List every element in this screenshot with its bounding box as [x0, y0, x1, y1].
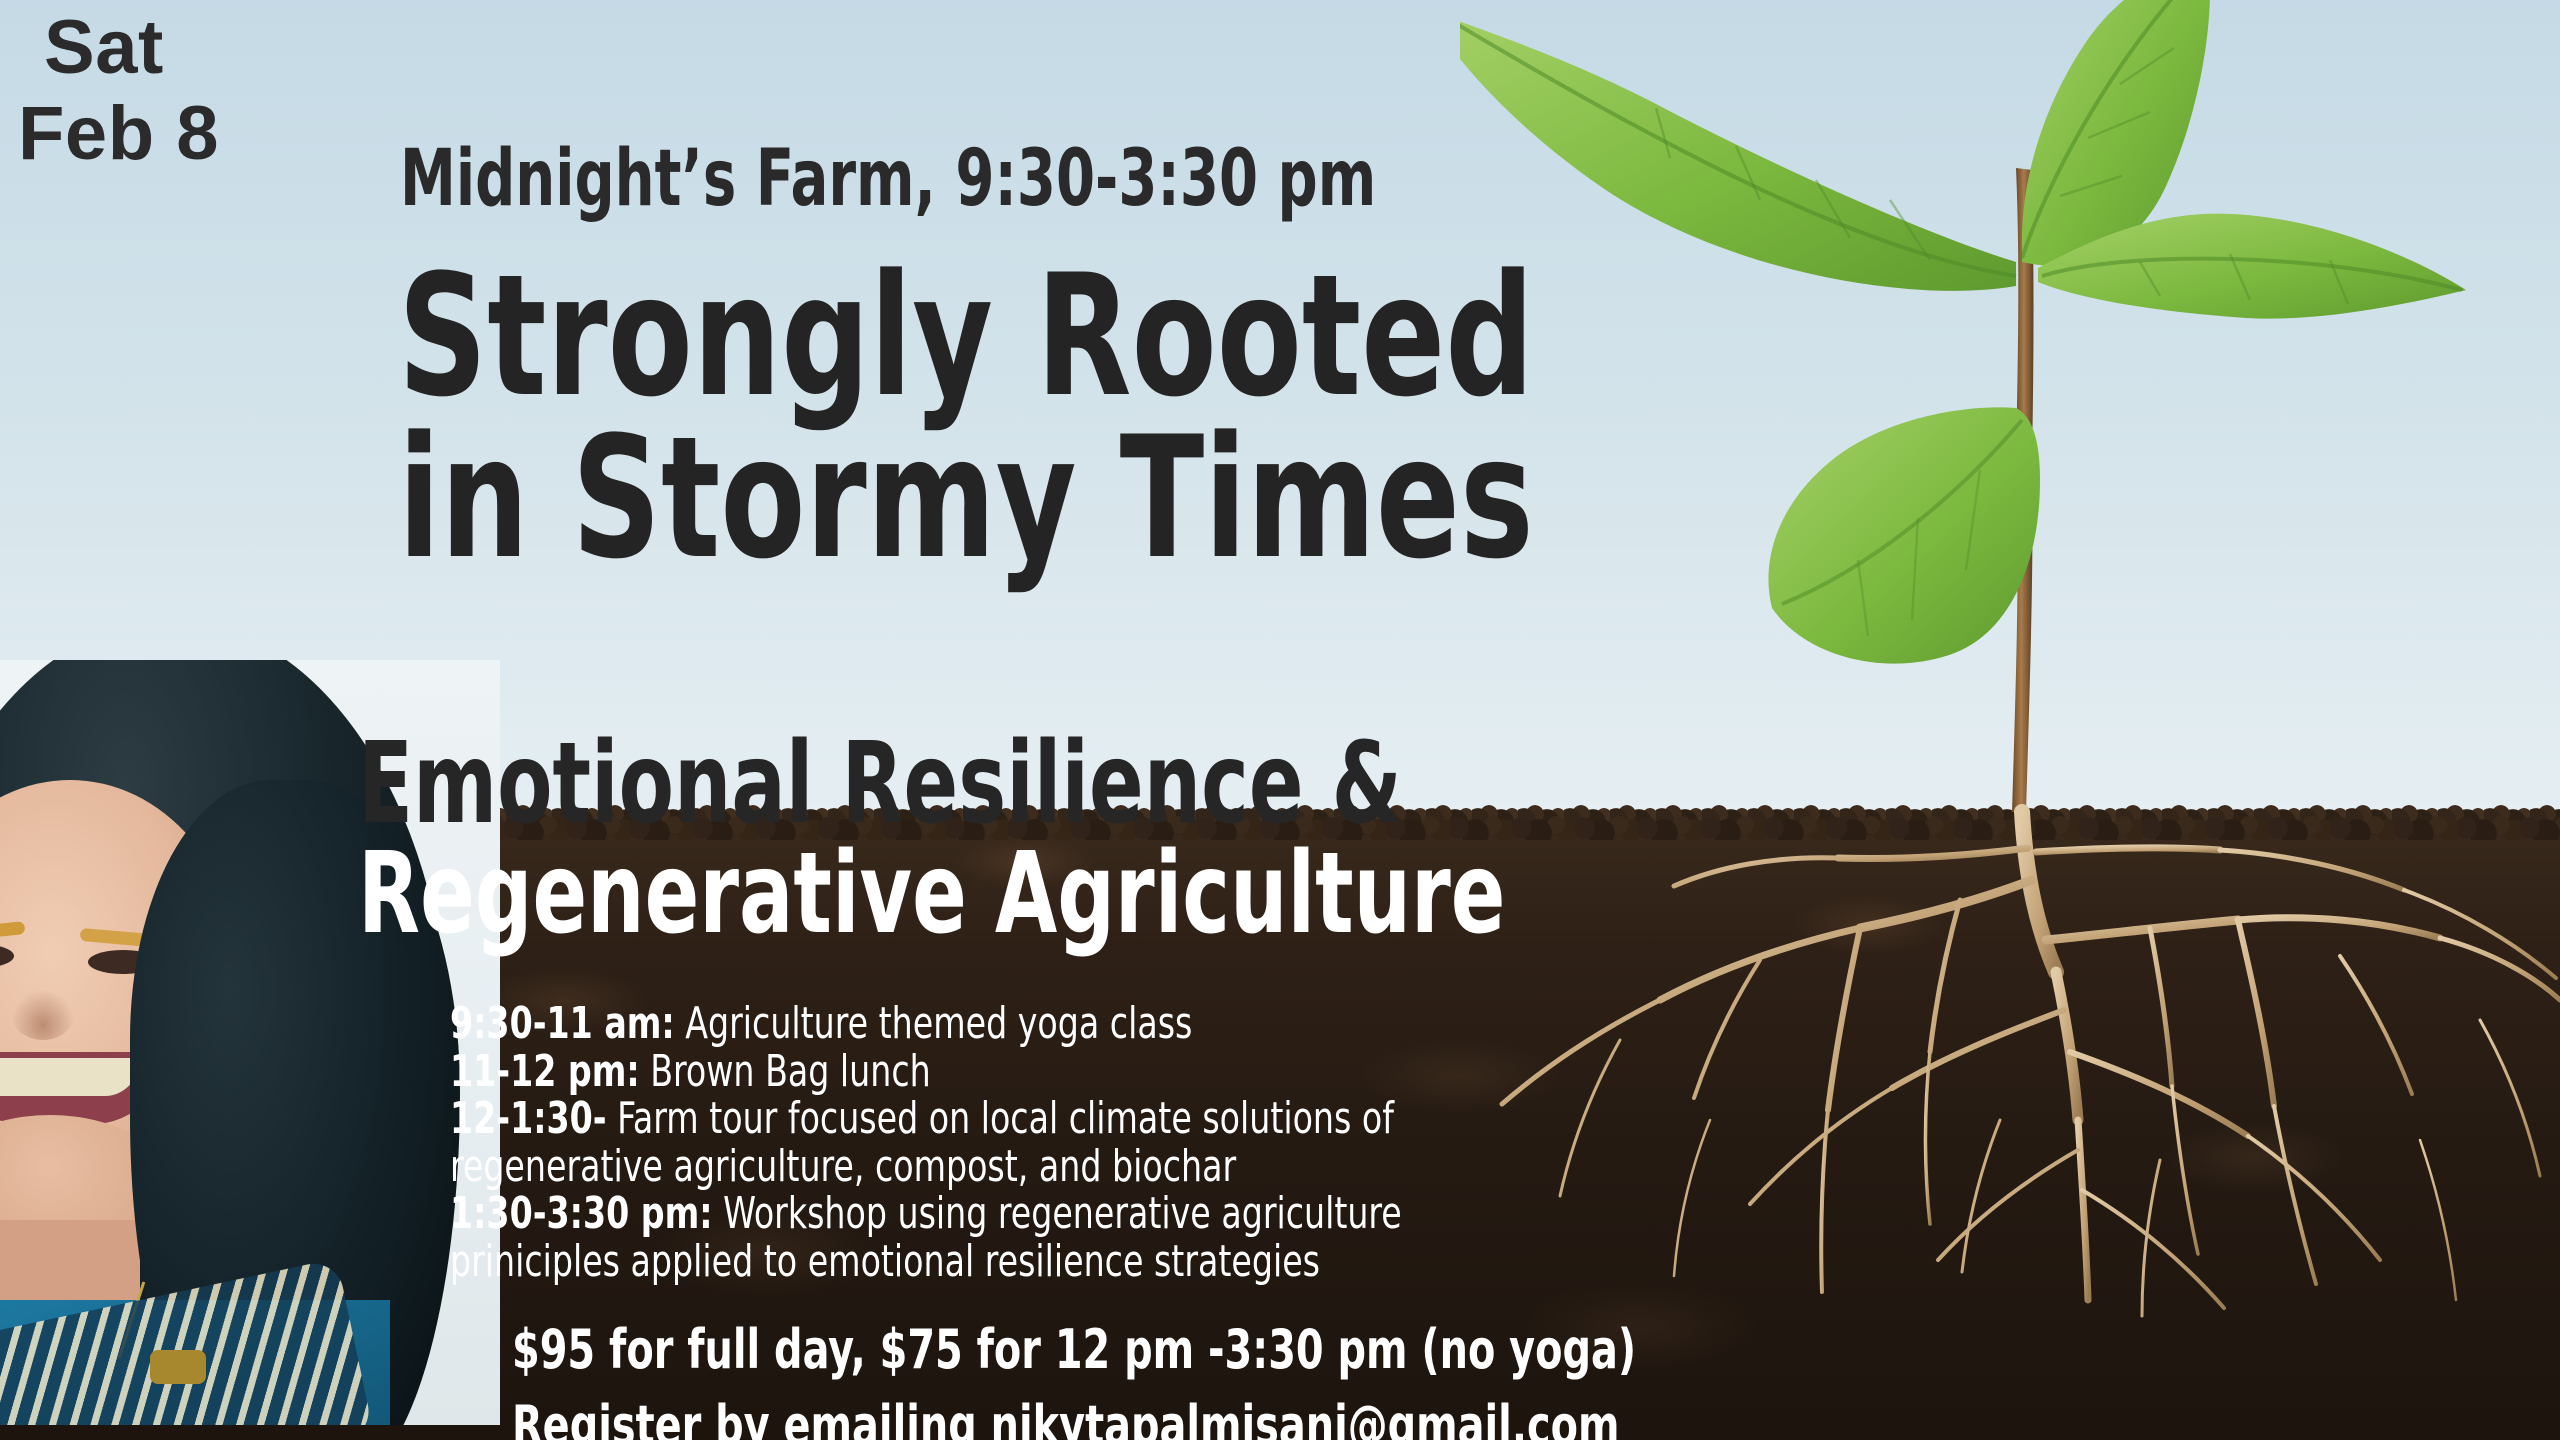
schedule-item-description: Brown Bag lunch [640, 1046, 931, 1097]
schedule-item: 11-12 pm: Brown Bag lunch [450, 1048, 1559, 1096]
poster-title-line-2: in Stormy Times [398, 418, 1534, 579]
schedule-list: 9:30-11 am: Agriculture themed yoga clas… [450, 1000, 1559, 1285]
date-weekday: Sat [44, 10, 164, 86]
portrait-nose [12, 990, 74, 1040]
schedule-item-description: priniciples applied to emotional resilie… [450, 1236, 1320, 1287]
schedule-item: regenerative agriculture, compost, and b… [450, 1143, 1559, 1191]
portrait-teeth [0, 1058, 138, 1096]
date-day: Feb 8 [18, 96, 219, 172]
poster-canvas: Sat Feb 8 Midnight’s Farm, 9:30-3:30 pm … [0, 0, 2560, 1440]
portrait-pendant [150, 1350, 206, 1384]
schedule-item: 9:30-11 am: Agriculture themed yoga clas… [450, 1000, 1559, 1048]
schedule-item-time: 1:30-3:30 pm: [450, 1188, 713, 1239]
schedule-item-description: regenerative agriculture, compost, and b… [450, 1141, 1236, 1192]
schedule-item-description: Workshop using regenerative agriculture [713, 1188, 1402, 1239]
schedule-item: 12-1:30- Farm tour focused on local clim… [450, 1095, 1559, 1143]
schedule-item: 1:30-3:30 pm: Workshop using regenerativ… [450, 1190, 1559, 1238]
poster-subtitle-line-1: Emotional Resilience & [358, 730, 1402, 840]
poster-title-line-1: Strongly Rooted [398, 256, 1534, 417]
schedule-item-description: Agriculture themed yoga class [675, 998, 1193, 1049]
schedule-item-time: 9:30-11 am: [450, 998, 675, 1049]
pricing-line: $95 for full day, $75 for 12 pm -3:30 pm… [512, 1318, 1636, 1381]
venue-and-time-line: Midnight’s Farm, 9:30-3:30 pm [400, 140, 1376, 218]
schedule-item-time: 11-12 pm: [450, 1046, 640, 1097]
poster-subtitle-line-2: Regenerative Agriculture [358, 840, 1505, 950]
schedule-item: priniciples applied to emotional resilie… [450, 1238, 1559, 1286]
schedule-item-description: Farm tour focused on local climate solut… [607, 1093, 1394, 1144]
registration-line: Register by emailing nikytapalmisani@gma… [512, 1394, 1619, 1440]
schedule-item-time: 12-1:30- [450, 1093, 607, 1144]
